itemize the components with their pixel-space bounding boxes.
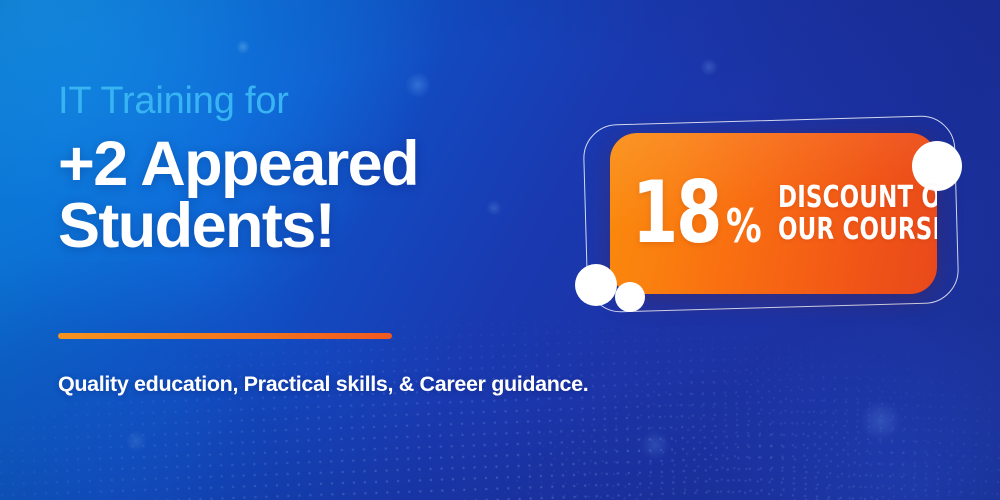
discount-badge[interactable]: 18 % DISCOUNT ON ALL OUR COURSES [575, 112, 975, 322]
percent-group: 18 % [632, 177, 766, 249]
headline-line-2: Students! [58, 195, 558, 257]
subtitle-text: Quality education, Practical skills, & C… [58, 372, 588, 397]
headline-block: IT Training for +2 Appeared Students! [58, 82, 558, 258]
decorative-circle-bottom-left-small [615, 282, 645, 312]
discount-caption-line-1: DISCOUNT ON ALL [778, 182, 937, 213]
discount-caption: DISCOUNT ON ALL OUR COURSES [778, 182, 937, 244]
decorative-circle-bottom-left [575, 264, 617, 306]
headline-line-1: +2 Appeared [58, 129, 418, 199]
discount-percent-number: 18 [632, 177, 720, 249]
page-title: +2 Appeared Students! [58, 133, 558, 258]
eyebrow-text: IT Training for [58, 82, 558, 122]
promo-banner: IT Training for +2 Appeared Students! Qu… [0, 0, 1000, 500]
orange-divider-rule [58, 333, 392, 339]
discount-caption-line-2: OUR COURSES [778, 214, 937, 245]
percent-symbol: % [726, 203, 761, 249]
badge-orange-panel: 18 % DISCOUNT ON ALL OUR COURSES [610, 133, 937, 294]
